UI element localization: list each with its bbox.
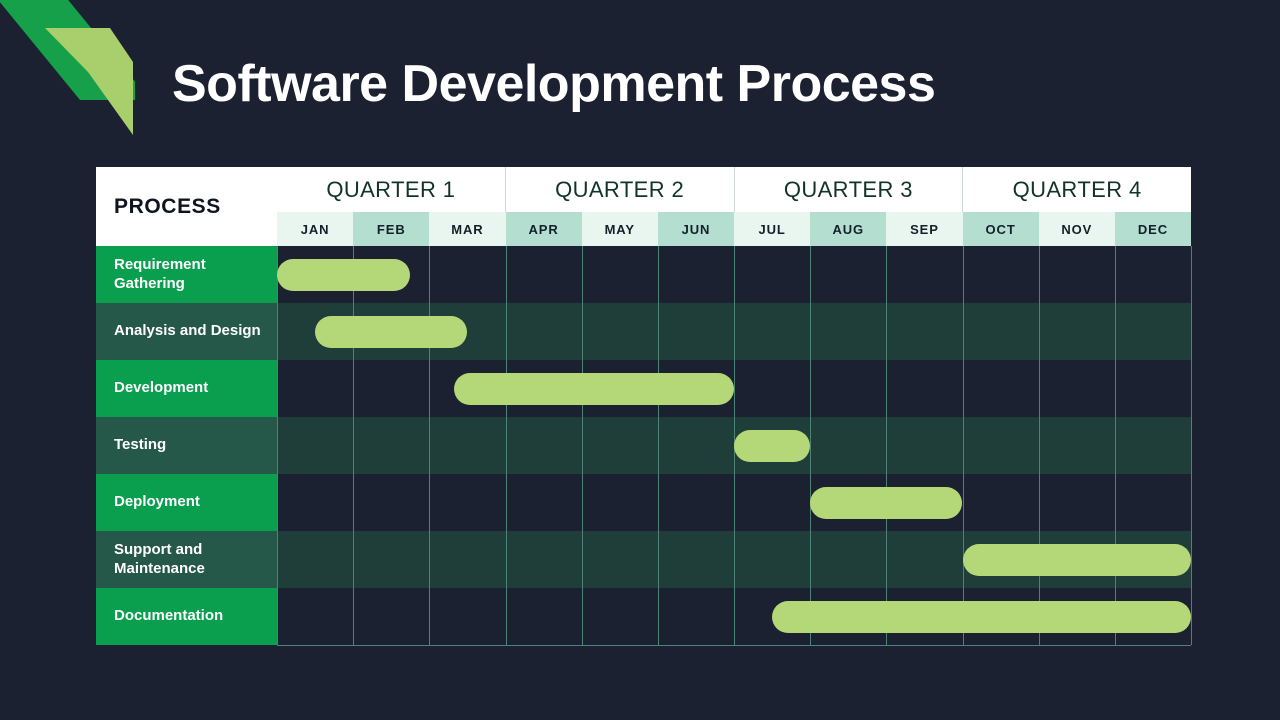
gridline-vertical	[886, 417, 887, 474]
quarter-header-row: QUARTER 1QUARTER 2QUARTER 3QUARTER 4	[277, 167, 1191, 212]
gantt-bar[interactable]	[772, 601, 1191, 633]
page-title: Software Development Process	[172, 54, 935, 114]
gantt-row: Requirement Gathering	[96, 246, 1191, 303]
gantt-row: Support and Maintenance	[96, 531, 1191, 588]
gridline-vertical	[810, 531, 811, 588]
gridline-vertical	[429, 246, 430, 303]
gridline-vertical	[1191, 360, 1192, 417]
month-header-jul: JUL	[734, 212, 810, 246]
month-header-nov: NOV	[1039, 212, 1115, 246]
month-header-dec: DEC	[1115, 212, 1191, 246]
gridline-vertical	[658, 474, 659, 531]
gridline-vertical	[1115, 417, 1116, 474]
gridline-vertical	[658, 303, 659, 360]
gantt-track	[277, 417, 1191, 474]
gridline-vertical	[810, 360, 811, 417]
gridline-vertical	[1039, 417, 1040, 474]
gridline-vertical	[506, 474, 507, 531]
row-label-support-and-maintenance: Support and Maintenance	[96, 531, 277, 588]
gantt-row: Testing	[96, 417, 1191, 474]
gridline-vertical	[353, 360, 354, 417]
gantt-track	[277, 246, 1191, 303]
gridline-vertical	[963, 474, 964, 531]
month-header-jan: JAN	[277, 212, 353, 246]
gridline-vertical	[734, 531, 735, 588]
month-header-jun: JUN	[658, 212, 734, 246]
gantt-row: Development	[96, 360, 1191, 417]
gridline-vertical	[658, 246, 659, 303]
gridline-vertical	[1039, 474, 1040, 531]
gantt-row: Deployment	[96, 474, 1191, 531]
gridline-vertical	[429, 417, 430, 474]
gridline-vertical	[734, 588, 735, 645]
quarter-header-3: QUARTER 3	[735, 167, 964, 212]
gridline-vertical	[277, 360, 278, 417]
gantt-bar[interactable]	[454, 373, 734, 405]
gridline-vertical	[353, 474, 354, 531]
gantt-body: Requirement GatheringAnalysis and Design…	[96, 246, 1191, 645]
gridline-vertical	[582, 417, 583, 474]
gridline-vertical	[963, 303, 964, 360]
gantt-row: Analysis and Design	[96, 303, 1191, 360]
month-header-feb: FEB	[353, 212, 429, 246]
gridline-vertical	[582, 303, 583, 360]
month-header-mar: MAR	[429, 212, 505, 246]
process-header-cell: PROCESS	[96, 167, 277, 246]
gridline-vertical	[1039, 360, 1040, 417]
gridline-vertical	[1191, 417, 1192, 474]
gridline-vertical	[506, 588, 507, 645]
row-label-development: Development	[96, 360, 277, 417]
gridline-vertical	[658, 531, 659, 588]
gridline-vertical	[734, 474, 735, 531]
gantt-row: Documentation	[96, 588, 1191, 645]
gridline-vertical	[1039, 303, 1040, 360]
row-label-requirement-gathering: Requirement Gathering	[96, 246, 277, 303]
gridline-vertical	[582, 474, 583, 531]
gantt-bar[interactable]	[315, 316, 467, 348]
gridline-vertical	[658, 588, 659, 645]
gridline-vertical	[1115, 303, 1116, 360]
gridline-vertical	[582, 246, 583, 303]
row-label-analysis-and-design: Analysis and Design	[96, 303, 277, 360]
gridline-vertical	[810, 246, 811, 303]
gridline-vertical	[429, 531, 430, 588]
gridline-vertical	[1115, 474, 1116, 531]
gantt-bar[interactable]	[810, 487, 962, 519]
gantt-track	[277, 360, 1191, 417]
gridline-vertical	[506, 246, 507, 303]
gridline-vertical	[277, 474, 278, 531]
month-header-sep: SEP	[886, 212, 962, 246]
gridline-vertical	[810, 303, 811, 360]
gridline-vertical	[429, 360, 430, 417]
row-label-documentation: Documentation	[96, 588, 277, 645]
gridline-vertical	[277, 588, 278, 645]
gantt-track	[277, 474, 1191, 531]
gridline-vertical	[1191, 531, 1192, 588]
gridline-vertical	[886, 531, 887, 588]
gridline-vertical	[810, 417, 811, 474]
gantt-track	[277, 588, 1191, 645]
gridline-vertical	[734, 303, 735, 360]
gantt-bar[interactable]	[734, 430, 810, 462]
brand-logo	[0, 0, 135, 135]
gridline-vertical	[1191, 303, 1192, 360]
month-header-apr: APR	[506, 212, 582, 246]
gridline-vertical	[506, 303, 507, 360]
gridline-vertical	[1115, 360, 1116, 417]
gantt-track	[277, 303, 1191, 360]
gridline-vertical	[734, 246, 735, 303]
gridline-vertical	[886, 303, 887, 360]
gantt-track	[277, 531, 1191, 588]
process-header-label: PROCESS	[114, 195, 221, 219]
gridline-vertical	[429, 588, 430, 645]
gridline-vertical	[886, 360, 887, 417]
gridline-vertical	[734, 360, 735, 417]
gridline-vertical	[1191, 246, 1192, 303]
gridline-vertical	[582, 531, 583, 588]
gridline-vertical	[277, 531, 278, 588]
gridline-vertical	[963, 417, 964, 474]
month-header-row: JANFEBMARAPRMAYJUNJULAUGSEPOCTNOVDEC	[277, 212, 1191, 246]
gridline-vertical	[506, 531, 507, 588]
gantt-bar[interactable]	[277, 259, 410, 291]
month-header-oct: OCT	[963, 212, 1039, 246]
row-label-testing: Testing	[96, 417, 277, 474]
gridline-vertical	[506, 417, 507, 474]
gridline-vertical	[277, 303, 278, 360]
gantt-bar[interactable]	[963, 544, 1192, 576]
gridline-vertical	[277, 417, 278, 474]
quarter-header-1: QUARTER 1	[277, 167, 506, 212]
gridline-vertical	[963, 360, 964, 417]
gridline-vertical	[353, 588, 354, 645]
gridline-vertical	[1191, 474, 1192, 531]
gridline-vertical	[353, 531, 354, 588]
month-header-aug: AUG	[810, 212, 886, 246]
month-header-may: MAY	[582, 212, 658, 246]
gridline-vertical	[429, 474, 430, 531]
gridline-vertical	[353, 417, 354, 474]
gridline-vertical	[1039, 246, 1040, 303]
gridline-vertical	[658, 417, 659, 474]
gridline-vertical	[1115, 246, 1116, 303]
row-label-deployment: Deployment	[96, 474, 277, 531]
gridline-vertical	[963, 246, 964, 303]
gridline-vertical	[1191, 588, 1192, 645]
quarter-header-4: QUARTER 4	[963, 167, 1191, 212]
gridline-horizontal	[277, 645, 1191, 646]
quarter-header-2: QUARTER 2	[506, 167, 735, 212]
logo-shapes	[0, 0, 135, 135]
gridline-vertical	[582, 588, 583, 645]
gantt-chart: PROCESS QUARTER 1QUARTER 2QUARTER 3QUART…	[96, 167, 1191, 645]
gridline-vertical	[886, 246, 887, 303]
